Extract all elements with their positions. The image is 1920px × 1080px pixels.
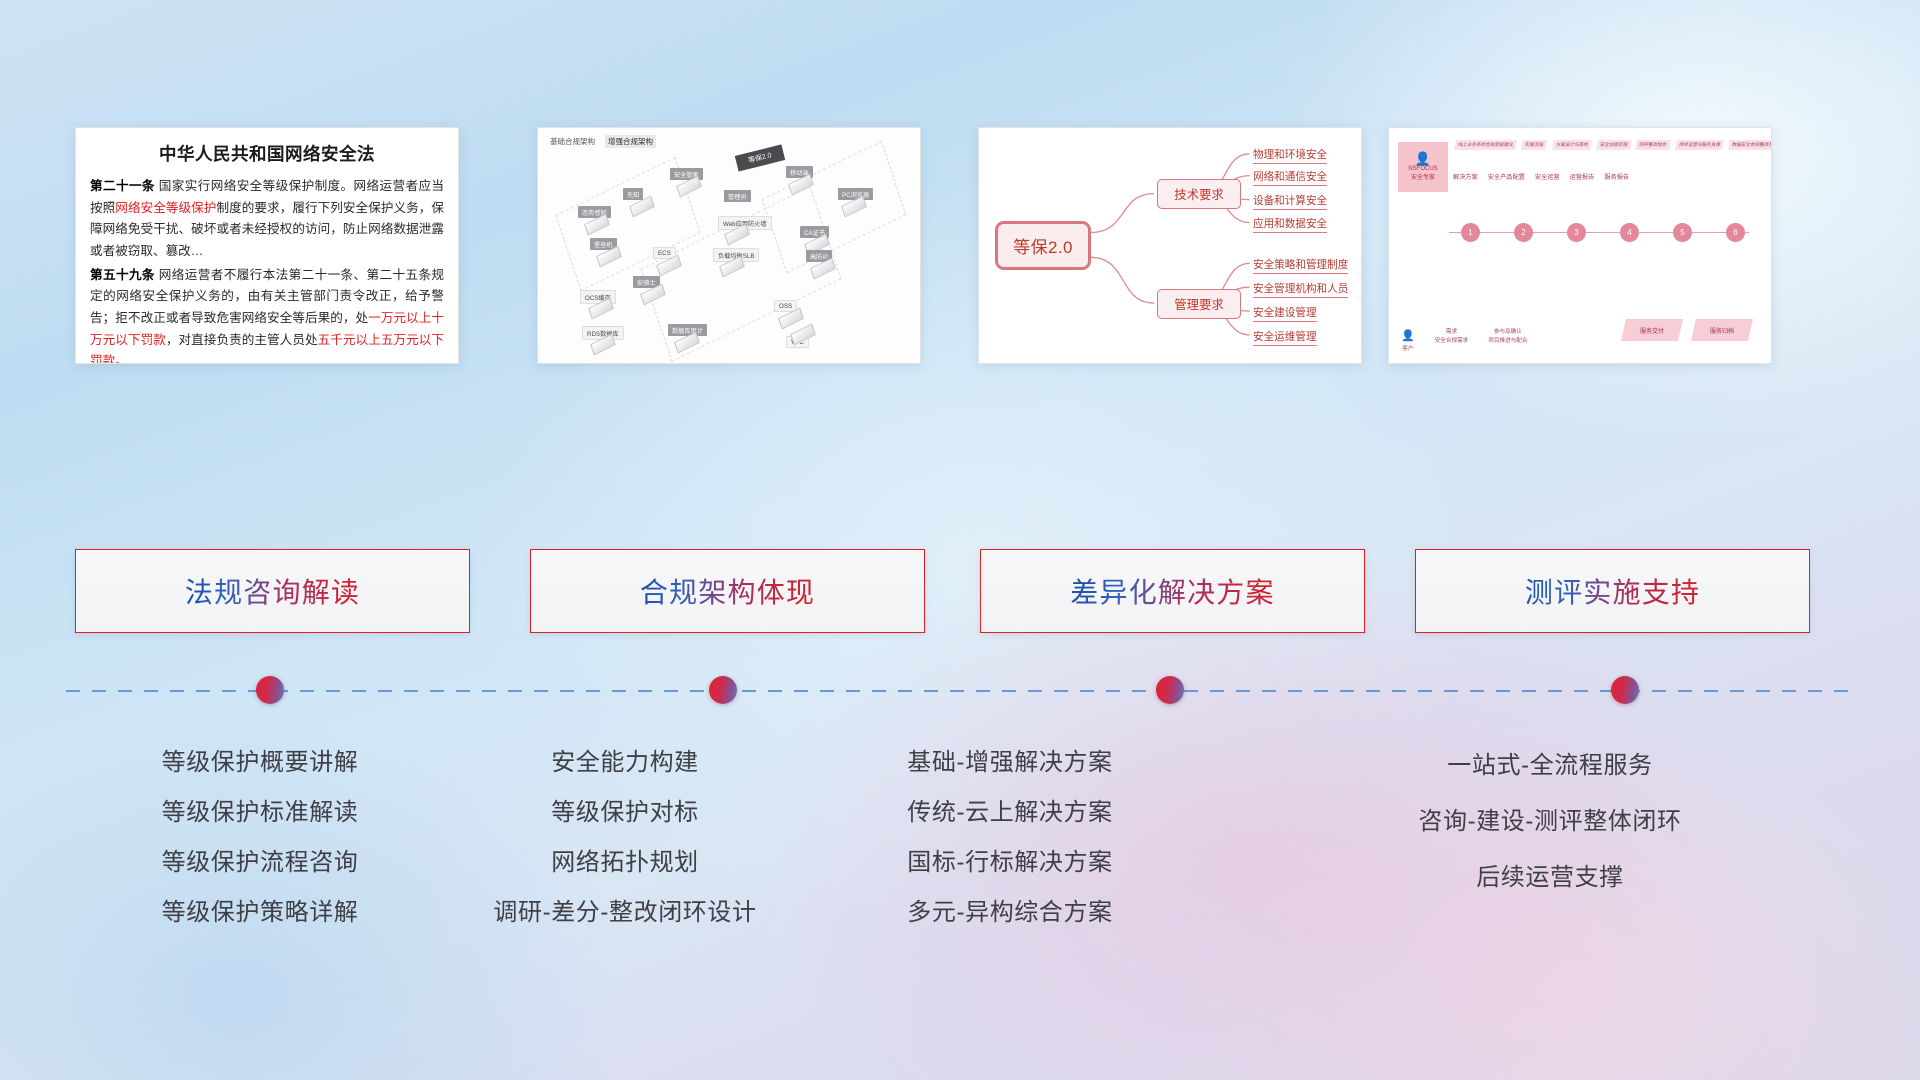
law-body: 第二十一条 国家实行网络安全等级保护制度。网络运营者应当按照网络安全等级保护制度… (76, 176, 458, 364)
list-item: 咨询-建设-测评整体闭环 (1360, 794, 1740, 850)
nsfocus-brand-sub: 安全专家 (1411, 174, 1435, 182)
card-architecture-diagram[interactable]: 基础合规架构 增强合规架构 等保2.0 安全管家 先知 态势感知 堡垒机 ECS… (537, 127, 921, 364)
timeline-dashed-line (66, 690, 1856, 692)
list-item: 安全能力构建 (440, 738, 810, 788)
mindmap-leaf-mgmt-3: 安全运维管理 (1253, 329, 1317, 346)
roadmap-phase-0: 解决方案 (1453, 172, 1478, 181)
roadmap-top-tags: 线上业务系统合规定级建议 实施流程 方案设计与落地 安全加固实施 测评整改配合 … (1455, 140, 1772, 150)
label-text-differentiated-solution: 差异化解决方案 (1070, 571, 1274, 611)
list-item: 等级保护流程咨询 (95, 838, 425, 888)
roadmap-step-5: 5 (1673, 223, 1692, 242)
roadmap-footer-item-1: 参与及确认 项目推进与配合 (1488, 328, 1527, 345)
roadmap-footer-item-0: 需求 安全合规需求 (1435, 328, 1469, 345)
mindmap-leaf-tech-3: 应用和数据安全 (1253, 216, 1327, 233)
label-box-regulation-consulting[interactable]: 法规咨询解读 (75, 549, 470, 633)
preview-cards-row: 中华人民共和国网络安全法 第二十一条 国家实行网络安全等级保护制度。网络运营者应… (0, 127, 1920, 365)
roadmap-step-1: 1 (1461, 223, 1480, 242)
mindmap-branch-management: 管理要求 (1157, 289, 1241, 319)
column-regulation-consulting: 等级保护概要讲解 等级保护标准解读 等级保护流程咨询 等级保护策略详解 (95, 738, 425, 938)
label-box-compliance-architecture[interactable]: 合规架构体现 (530, 549, 925, 633)
roadmap-tag-3: 安全加固实施 (1596, 140, 1631, 150)
roadmap-step-3: 3 (1567, 223, 1586, 242)
arch-zone-right (762, 141, 907, 274)
roadmap-tag-5: 持续运营与服务支撑 (1675, 140, 1724, 150)
arch-node-admin: 管理员 (724, 190, 751, 202)
roadmap-footer-user: 👤 客户 (1401, 328, 1415, 353)
roadmap-tag-4: 测评整改配合 (1635, 140, 1670, 150)
page-root: 中华人民共和国网络安全法 第二十一条 国家实行网络安全等级保护制度。网络运营者应… (0, 0, 1920, 1080)
roadmap-phase-3: 运营报告 (1570, 172, 1595, 181)
mindmap-leaf-tech-2: 设备和计算安全 (1253, 193, 1327, 210)
label-text-assessment-support: 测评实施支持 (1525, 571, 1700, 611)
label-text-regulation-consulting: 法规咨询解读 (185, 571, 360, 611)
roadmap-footer: 👤 客户 需求 安全合规需求 参与及确认 项目推进与配合 (1401, 328, 1527, 353)
roadmap-footer-confirm: 参与及确认 (1494, 329, 1522, 335)
roadmap-footer-user-label: 客户 (1402, 346, 1413, 352)
column-differentiated-solution: 基础-增强解决方案 传统-云上解决方案 国标-行标解决方案 多元-异构综合方案 (835, 738, 1185, 938)
mindmap-leaf-tech-1: 网络和通信安全 (1253, 169, 1327, 186)
label-boxes-row: 法规咨询解读 合规架构体现 差异化解决方案 测评实施支持 (0, 549, 1920, 633)
roadmap-phase-4: 服务报告 (1604, 172, 1629, 181)
list-item: 等级保护标准解读 (95, 788, 425, 838)
timeline-dot-3[interactable] (1156, 676, 1184, 704)
timeline-dot-2[interactable] (709, 676, 737, 704)
list-item: 多元-异构综合方案 (835, 888, 1185, 938)
arch-node-xianzhi: 先知 (623, 188, 643, 200)
list-item: 一站式-全流程服务 (1360, 738, 1740, 794)
arch-node-db-audit: 数据库审计 (668, 324, 707, 336)
list-item: 国标-行标解决方案 (835, 838, 1185, 888)
law-article-59: 第五十九条 网络运营者不履行本法第二十一条、第二十五条规定的网络安全保护义务的，… (90, 265, 444, 364)
arch-banner: 等保2.0 (735, 144, 785, 171)
card-law-document[interactable]: 中华人民共和国网络安全法 第二十一条 国家实行网络安全等级保护制度。网络运营者应… (75, 127, 459, 364)
person-icon: 👤 (1415, 152, 1431, 165)
column-compliance-architecture: 安全能力构建 等级保护对标 网络拓扑规划 调研-差分-整改闭环设计 (440, 738, 810, 938)
roadmap-tag-6: 数据安全合规整改及上线前安全评估 (1728, 140, 1772, 150)
label-box-assessment-support[interactable]: 测评实施支持 (1415, 549, 1810, 633)
list-item: 后续运营支撑 (1360, 850, 1740, 906)
roadmap-step-2: 2 (1514, 223, 1533, 242)
nsfocus-brand-badge: 👤 NSFOCUS 安全专家 (1398, 142, 1448, 192)
list-item: 网络拓扑规划 (440, 838, 810, 888)
mindmap-leaf-mgmt-0: 安全策略和管理制度 (1253, 257, 1348, 274)
roadmap-phase-1: 安全产品配置 (1488, 172, 1525, 181)
roadmap-canvas: 👤 NSFOCUS 安全专家 线上业务系统合规定级建议 实施流程 方案设计与落地… (1389, 128, 1771, 363)
user-icon: 👤 (1401, 330, 1415, 342)
timeline (66, 689, 1856, 693)
law-a21-seg1-highlight: 网络安全等级保护 (115, 201, 216, 215)
mindmap-leaf-tech-0: 物理和环境安全 (1253, 147, 1327, 164)
roadmap-step-6: 6 (1726, 223, 1745, 242)
law-article-21: 第二十一条 国家实行网络安全等级保护制度。网络运营者应当按照网络安全等级保护制度… (90, 176, 444, 263)
roadmap-phase-labels: 解决方案 安全产品配置 安全运营 运营报告 服务报告 (1453, 172, 1629, 181)
list-item: 等级保护策略详解 (95, 888, 425, 938)
arch-tab-enhanced[interactable]: 增强合规架构 (605, 135, 656, 148)
mindmap-root-node: 等保2.0 (995, 221, 1091, 270)
card-service-roadmap[interactable]: 👤 NSFOCUS 安全专家 线上业务系统合规定级建议 实施流程 方案设计与落地… (1388, 127, 1772, 364)
timeline-dot-4[interactable] (1611, 676, 1639, 704)
list-item: 调研-差分-整改闭环设计 (440, 888, 810, 938)
feature-columns: 等级保护概要讲解 等级保护标准解读 等级保护流程咨询 等级保护策略详解 安全能力… (0, 738, 1920, 958)
mindmap-branch-technical: 技术要求 (1157, 179, 1241, 209)
column-assessment-support: 一站式-全流程服务 咨询-建设-测评整体闭环 后续运营支撑 (1360, 738, 1740, 906)
card-mindmap[interactable]: 等保2.0 技术要求 管理要求 物理和环境安全 网络和通信安全 设备和计算安全 … (978, 127, 1362, 364)
list-item: 传统-云上解决方案 (835, 788, 1185, 838)
roadmap-footer-need: 需求 (1446, 329, 1457, 335)
roadmap-timeline-line (1449, 232, 1749, 233)
law-article-59-number: 第五十九条 (90, 268, 155, 282)
roadmap-tag-2: 方案设计与落地 (1552, 140, 1592, 150)
mindmap-leaf-mgmt-1: 安全管理机构和人员 (1253, 281, 1348, 298)
label-text-compliance-architecture: 合规架构体现 (640, 571, 815, 611)
roadmap-tag-1: 实施流程 (1521, 140, 1547, 150)
timeline-dot-1[interactable] (256, 676, 284, 704)
architecture-tabs[interactable]: 基础合规架构 增强合规架构 (547, 135, 656, 148)
roadmap-step-4: 4 (1620, 223, 1639, 242)
law-title: 中华人民共和国网络安全法 (76, 141, 458, 166)
architecture-canvas: 基础合规架构 增强合规架构 等保2.0 安全管家 先知 态势感知 堡垒机 ECS… (538, 128, 920, 363)
label-box-differentiated-solution[interactable]: 差异化解决方案 (980, 549, 1365, 633)
list-item: 等级保护对标 (440, 788, 810, 838)
law-a59-seg2: ，对直接负责的主管人员处 (166, 333, 318, 347)
roadmap-phase-2: 安全运营 (1535, 172, 1560, 181)
list-item: 等级保护概要讲解 (95, 738, 425, 788)
roadmap-footer-need-sub: 安全合规需求 (1435, 338, 1469, 344)
roadmap-tag-0: 线上业务系统合规定级建议 (1454, 140, 1517, 150)
arch-tab-basic[interactable]: 基础合规架构 (547, 135, 598, 148)
roadmap-delivery-triangle: 服务交付 (1621, 319, 1683, 341)
roadmap-archive-triangle: 服务归档 (1691, 319, 1753, 341)
list-item: 基础-增强解决方案 (835, 738, 1185, 788)
mindmap-leaf-mgmt-2: 安全建设管理 (1253, 305, 1317, 322)
mindmap-canvas: 等保2.0 技术要求 管理要求 物理和环境安全 网络和通信安全 设备和计算安全 … (979, 128, 1361, 363)
nsfocus-brand-name: NSFOCUS (1408, 165, 1437, 173)
roadmap-footer-confirm-sub: 项目推进与配合 (1488, 338, 1527, 344)
law-article-21-number: 第二十一条 (90, 179, 155, 193)
